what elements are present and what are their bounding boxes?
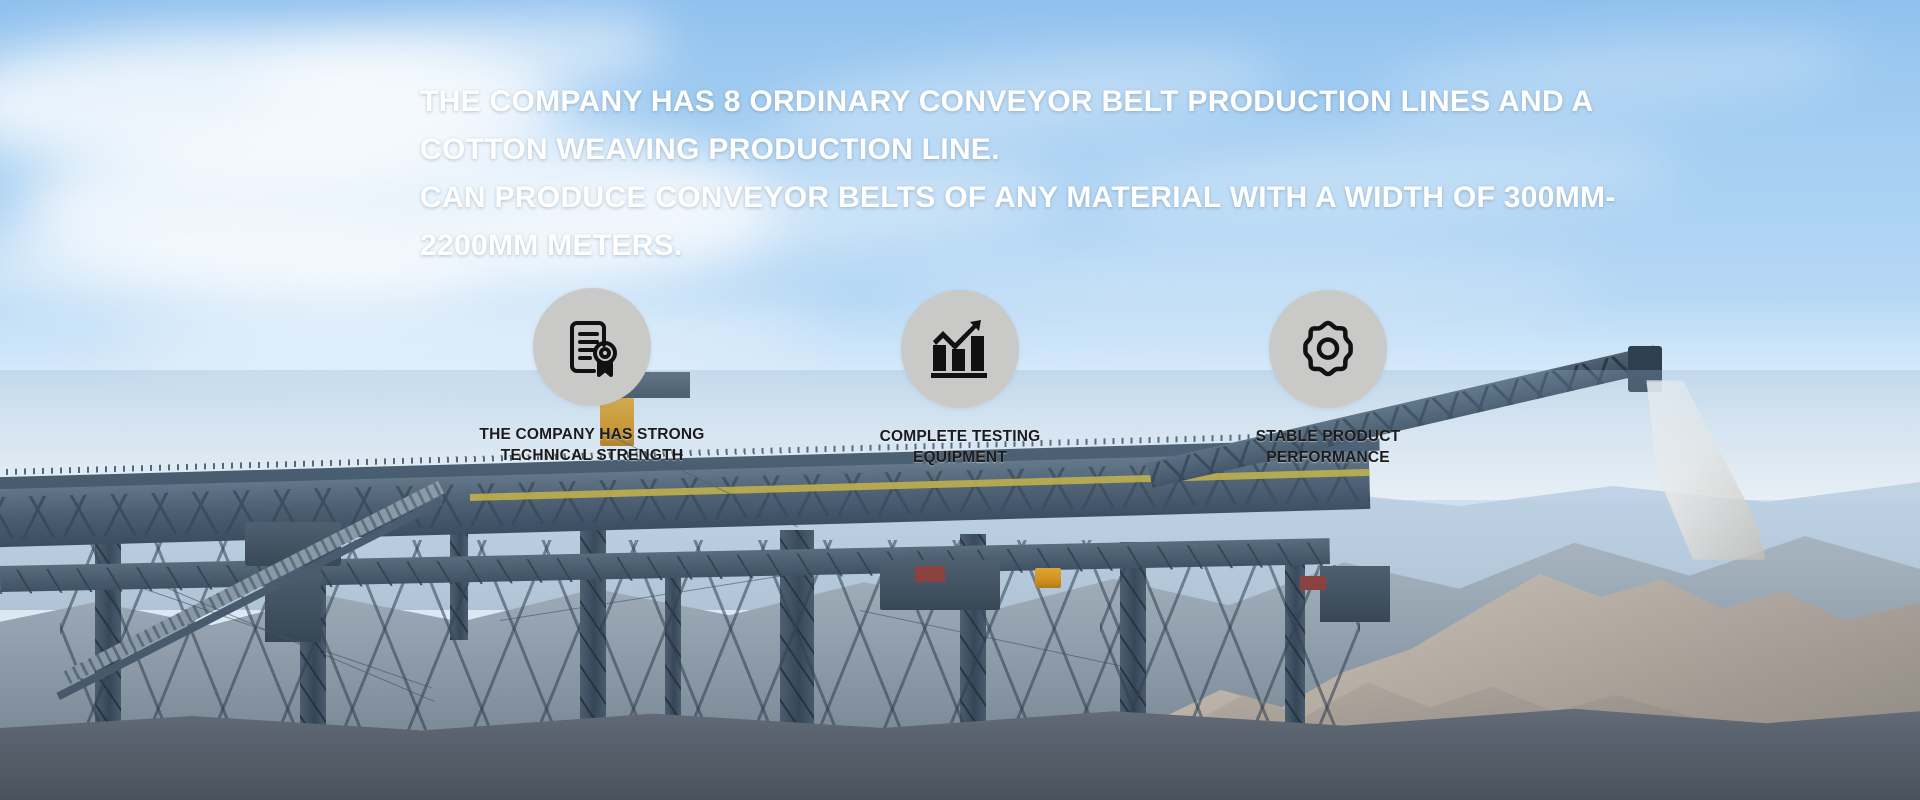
hero-banner: THE COMPANY HAS 8 ORDINARY CONVEYOR BELT… (0, 0, 1920, 800)
feature-list: THE COMPANY HAS STRONG TECHNICAL STRENGT… (0, 288, 1920, 468)
feature-item-product-performance[interactable]: STABLE PRODUCT PERFORMANCE (1213, 288, 1443, 468)
machine-mass (1320, 566, 1390, 622)
feature-label: THE COMPANY HAS STRONG TECHNICAL STRENGT… (479, 424, 704, 466)
feature-icon-circle (533, 288, 651, 406)
feature-icon-circle (901, 290, 1019, 408)
feature-label: STABLE PRODUCT PERFORMANCE (1256, 426, 1401, 468)
gear-icon (1297, 318, 1359, 380)
growth-bar-chart-icon (929, 319, 991, 379)
certificate-award-icon (560, 315, 624, 379)
banner-headline: THE COMPANY HAS 8 ORDINARY CONVEYOR BELT… (420, 78, 1620, 270)
red-machinery-block (915, 566, 945, 582)
red-machinery-block (1300, 576, 1326, 590)
feature-item-technical-strength[interactable]: THE COMPANY HAS STRONG TECHNICAL STRENGT… (477, 288, 707, 466)
feature-label: COMPLETE TESTING EQUIPMENT (880, 426, 1041, 468)
yellow-machine-house (1035, 568, 1061, 588)
feature-item-testing-equipment[interactable]: COMPLETE TESTING EQUIPMENT (845, 288, 1075, 468)
feature-icon-circle (1269, 290, 1387, 408)
